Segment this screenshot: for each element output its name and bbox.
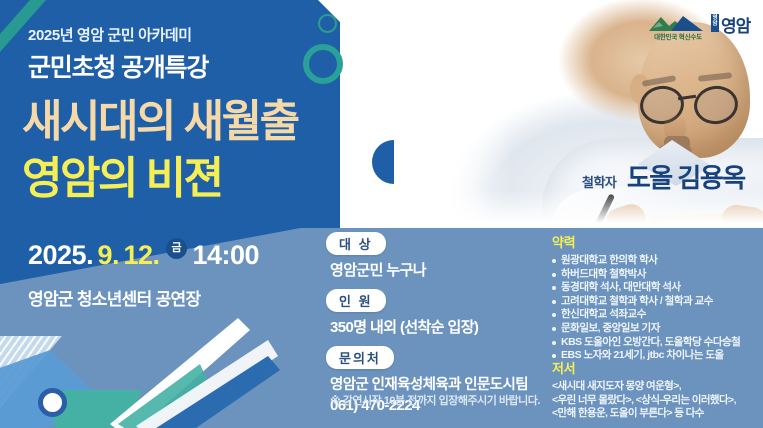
bio-heading: 약력 [552,232,757,251]
bio-item: 동경대학 석사, 대만대학 석사 [552,281,757,295]
speaker-name: 도올 김용옥 [627,163,745,193]
bio-item: 하버드대학 철학박사 [552,268,757,282]
blue-ring-decoration [38,388,67,417]
event-month: 9. [98,240,120,270]
logo-name: 영암 [721,12,750,37]
books-heading: 저서 [552,358,762,377]
teal-ring-large [303,44,343,84]
speaker-bio: 약력 원광대학교 한의학 학사 하버드대학 철학박사 동경대학 석사, 대만대학… [552,232,757,363]
speaker-role: 철학자 [582,175,616,190]
bio-item: 문화일보, 중앙일보 기자 [552,322,757,336]
detail-value-contact-org: 영암군 인재육성체육과 인문도시팀 [330,373,541,394]
event-datetime: 2025. 9. 12. 금 14:00 [28,240,259,272]
poster-kicker: 2025년 영암 군민 아카데미 [28,24,192,45]
photo-fade-bottom [392,190,763,230]
book-item: <우린 너무 몰랐다>, <상식-우리는 이러했다>, [552,394,762,408]
yeongam-logo: 대한민국 혁신수도 영암 영암 [647,8,751,42]
bio-item: 원광대학교 한의학 학사 [552,254,757,268]
event-year: 2025. [28,240,93,270]
logo-tagline: 대한민국 혁신수도 [647,31,709,41]
teal-ring-small [318,14,337,33]
detail-label-audience: 대 상 [326,232,386,255]
detail-label-contact: 문의처 [326,346,394,369]
event-poster: 2025년 영암 군민 아카데미 군민초청 공개특강 새시대의 새월출 영암의 … [0,0,763,428]
poster-title-line2: 영암의 비젼 [22,157,222,201]
book-item: <새시대 새지도자 몽양 여운형>, [552,380,762,394]
detail-value-capacity: 350명 내외 (선착순 입장) [330,316,541,337]
bio-item: KBS 도올아인 오방간다, 도올학당 수다승철 [552,336,757,350]
detail-row-capacity: 인 원 350명 내외 (선착순 입장) [326,289,541,337]
event-time: 14:00 [192,240,259,270]
speaker-books: 저서 <새시대 새지도자 몽양 여운형>, <우린 너무 몰랐다>, <상식-우… [552,358,762,421]
book-item: <만해 한용운, 도올이 부른다> 등 다수 [552,407,762,421]
detail-row-audience: 대 상 영암군민 누구나 [326,232,541,280]
speaker-credit: 철학자 도올 김용옥 [582,158,745,195]
glasses-icon [636,86,752,120]
event-weekday-badge: 금 [166,238,187,259]
bio-item: 고려대학교 철학과 학사 / 철학과 교수 [552,295,757,309]
event-day: 12. [124,240,160,270]
admission-note: ※ 강연시작 10분 전까지 입장해주시기 바랍니다. [330,392,540,408]
poster-subtitle: 군민초청 공개특강 [28,48,208,84]
event-venue: 영암군 청소년센터 공연장 [28,285,200,310]
bio-item: 한신대학교 석좌교수 [552,308,757,322]
detail-value-audience: 영암군민 누구나 [330,259,541,280]
detail-label-capacity: 인 원 [326,289,386,312]
mountain-icon [647,12,707,32]
logo-mark: 영암 [711,14,719,32]
poster-title-line1: 새시대의 새월출 [22,100,298,144]
